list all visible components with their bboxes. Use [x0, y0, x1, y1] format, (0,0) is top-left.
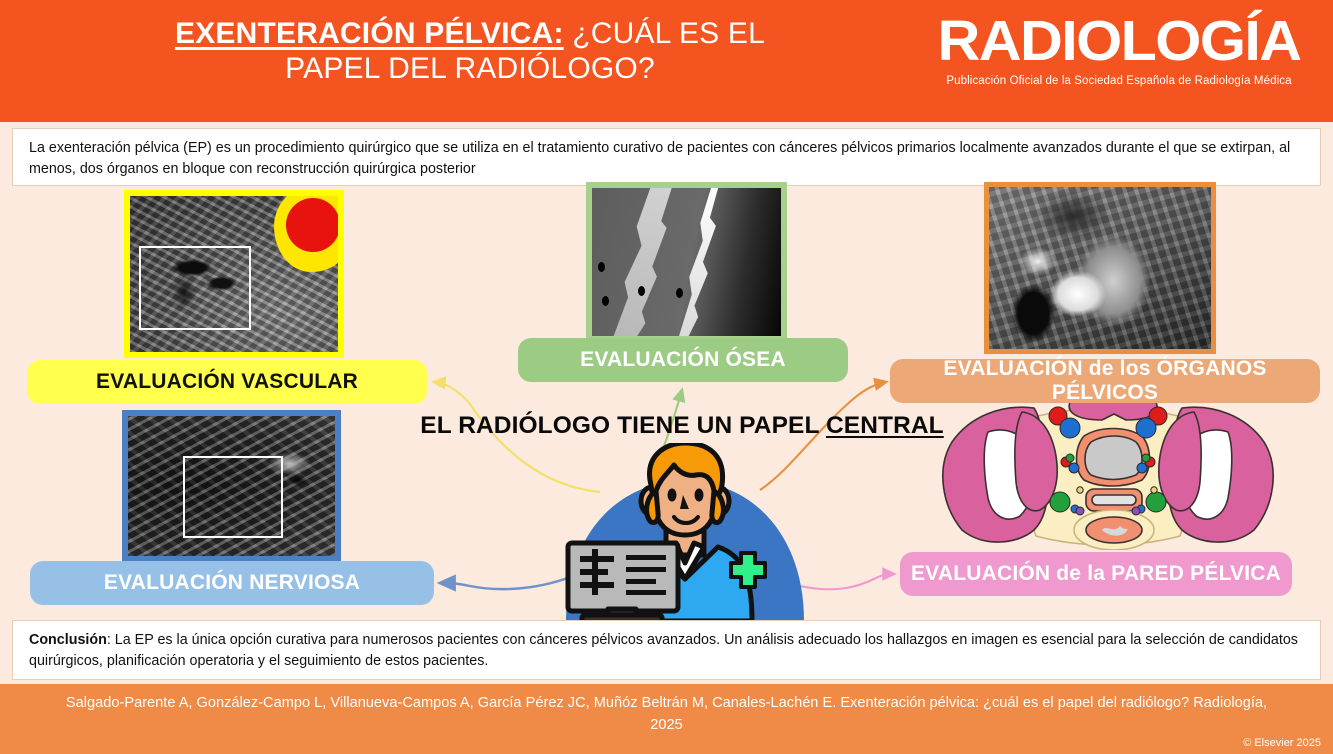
page-title-line2: PAPEL DEL RADIÓLOGO?: [40, 51, 900, 86]
intro-text: La exenteración pélvica (EP) es un proce…: [29, 138, 1304, 179]
center-headline: EL RADIÓLOGO TIENE UN PAPEL CENTRAL: [404, 412, 960, 440]
label-evaluacion-nerviosa[interactable]: EVALUACIÓN NERVIOSA: [30, 561, 434, 605]
conclusion-body: : La EP es la única opción curativa para…: [29, 632, 1298, 669]
vascular-red-marker: [286, 198, 338, 252]
bone-ct-pixels: [592, 188, 781, 336]
nerve-mri-thumbnail: [122, 410, 341, 562]
page-title-emphasis: EXENTERACIÓN PÉLVICA:: [175, 17, 564, 50]
journal-logo: RADIOLOGÍA Publicación Oficial de la Soc…: [919, 14, 1319, 87]
label-evaluacion-pared-pelvica[interactable]: EVALUACIÓN de la PARED PÉLVICA: [900, 552, 1292, 596]
conclusion-panel: Conclusión: La EP es la única opción cur…: [12, 620, 1321, 680]
pelvic-organs-mri-thumbnail: [984, 182, 1216, 354]
page-title-rest: ¿CUÁL ES EL: [564, 17, 765, 50]
label-evaluacion-organos-pelvicos[interactable]: EVALUACIÓN de los ÓRGANOS PÉLVICOS: [890, 359, 1320, 403]
conclusion-text: Conclusión: La EP es la única opción cur…: [29, 630, 1304, 671]
journal-logo-wordmark: RADIOLOGÍA: [911, 14, 1327, 70]
arrow-to-pelvic-wall: [800, 574, 894, 589]
radiologist-illustration: [556, 443, 814, 621]
footer-copyright: © Elsevier 2025: [1243, 737, 1321, 749]
footer-citation: Salgado-Parente A, González-Campo L, Vil…: [60, 693, 1273, 737]
conclusion-label: Conclusión: [29, 632, 107, 648]
vascular-mri-thumbnail: [124, 190, 344, 358]
page-title-line1: EXENTERACIÓN PÉLVICA: ¿CUÁL ES EL: [40, 16, 900, 51]
pelvic-wall-anatomy-diagram: [930, 398, 1286, 550]
center-headline-emphasis: CENTRAL: [826, 412, 944, 439]
nerve-roi-box: [183, 456, 283, 538]
pelvic-organs-mri-pixels: [989, 187, 1211, 349]
journal-logo-subtitle: Publicación Oficial de la Sociedad Españ…: [919, 75, 1319, 87]
infographic-canvas: EXENTERACIÓN PÉLVICA: ¿CUÁL ES EL PAPEL …: [0, 0, 1333, 754]
vascular-roi-box: [139, 246, 251, 330]
page-title: EXENTERACIÓN PÉLVICA: ¿CUÁL ES EL PAPEL …: [40, 16, 900, 87]
vessel-dot-blue-right: [1136, 418, 1156, 438]
vessel-dot-blue-left: [1060, 418, 1080, 438]
bone-ct-thumbnail: [586, 182, 787, 342]
label-evaluacion-vascular[interactable]: EVALUACIÓN VASCULAR: [27, 360, 427, 404]
label-evaluacion-osea[interactable]: EVALUACIÓN ÓSEA: [518, 338, 848, 382]
center-headline-prefix: EL RADIÓLOGO TIENE UN PAPEL: [420, 412, 826, 439]
intro-panel: La exenteración pélvica (EP) es un proce…: [12, 128, 1321, 186]
header-banner: EXENTERACIÓN PÉLVICA: ¿CUÁL ES EL PAPEL …: [0, 0, 1333, 122]
footer-banner: Salgado-Parente A, González-Campo L, Vil…: [0, 684, 1333, 754]
